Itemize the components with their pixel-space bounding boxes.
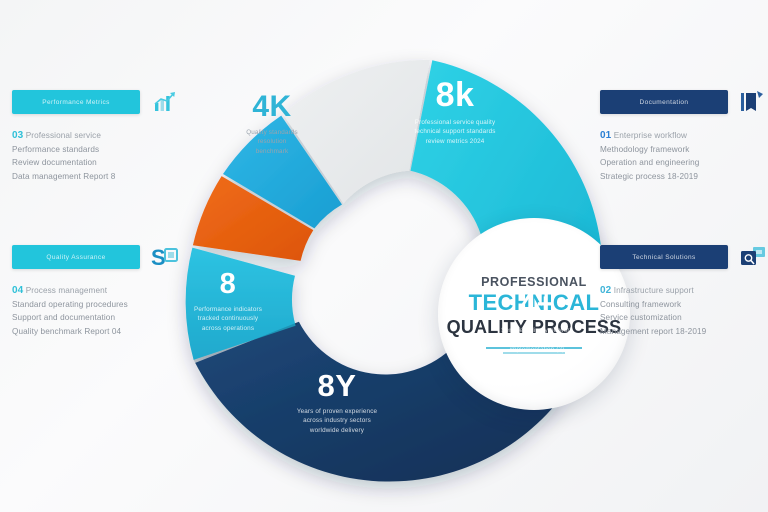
- panel-tag-documentation[interactable]: Documentation: [600, 90, 728, 114]
- panel-line: Service customization: [600, 311, 768, 325]
- hub-line-1: PROFESSIONAL: [481, 275, 587, 289]
- segment-value-top-left: 4K: [216, 92, 328, 122]
- panel-header: Technical Solutions: [600, 243, 768, 271]
- panel-tag-quality-assurance[interactable]: Quality Assurance: [12, 245, 140, 269]
- segment-label-bottom: 8Y Years of proven experience across ind…: [272, 370, 402, 435]
- panel-body: 03 Professional service Performance stan…: [12, 129, 180, 183]
- segment-subtext-right: Service delivery network enterprise mana…: [472, 326, 602, 354]
- panel-tag-performance-metrics[interactable]: Performance Metrics: [12, 90, 140, 114]
- panel-line: Support and documentation: [12, 311, 180, 325]
- segment-value-left: 8: [172, 270, 284, 299]
- panel-line: Management report 18-2019: [600, 325, 768, 339]
- segment-label-top-left: 4K Quality standards resolution benchmar…: [216, 92, 328, 156]
- panel-line: 01 Enterprise workflow: [600, 129, 768, 143]
- segment-subtext-bottom: Years of proven experience across indust…: [272, 407, 402, 435]
- infographic-canvas: PROFESSIONAL TECHNICAL QUALITY PROCESS 8…: [0, 0, 768, 512]
- panel-header: Performance Metrics: [12, 88, 180, 116]
- segment-subtext-left: Performance indicators tracked continuou…: [172, 305, 284, 333]
- segment-value-top: 8k: [390, 78, 520, 112]
- panel-body: 01 Enterprise workflow Methodology frame…: [600, 129, 768, 183]
- info-panel-bottom-left: Quality Assurance S 04 Process managemen…: [12, 243, 180, 338]
- panel-line: Operation and engineering: [600, 156, 768, 170]
- svg-text:S: S: [151, 245, 166, 270]
- segment-label-left: 8 Performance indicators tracked continu…: [172, 270, 284, 333]
- panel-line: 03 Professional service: [12, 129, 180, 143]
- info-panel-bottom-right: Technical Solutions 02 Infrastructure su…: [600, 243, 768, 338]
- panel-line: Quality benchmark Report 04: [12, 325, 180, 339]
- panel-tag-technical-solutions[interactable]: Technical Solutions: [600, 245, 728, 269]
- book-icon: [736, 87, 768, 117]
- segment-subtext-top: Professional service quality technical s…: [390, 118, 520, 146]
- panel-header: Documentation: [600, 88, 768, 116]
- storage-icon: S: [148, 242, 180, 272]
- panel-line: Standard operating procedures: [12, 298, 180, 312]
- panel-header: Quality Assurance S: [12, 243, 180, 271]
- panel-line: Review documentation: [12, 156, 180, 170]
- panel-line: Performance standards: [12, 143, 180, 157]
- panel-line: Methodology framework: [600, 143, 768, 157]
- panel-body: 04 Process management Standard operating…: [12, 284, 180, 338]
- bar-chart-icon: [148, 87, 180, 117]
- segment-subtext-top-left: Quality standards resolution benchmark: [216, 128, 328, 156]
- panel-line: Strategic process 18-2019: [600, 170, 768, 184]
- segment-value-right: 4+: [472, 290, 602, 320]
- panel-body: 02 Infrastructure support Consulting fra…: [600, 284, 768, 338]
- info-panel-top-left: Performance Metrics 03 Professional serv…: [12, 88, 180, 183]
- panel-line: 02 Infrastructure support: [600, 284, 768, 298]
- panel-line: 04 Process management: [12, 284, 180, 298]
- segment-value-bottom: 8Y: [272, 370, 402, 401]
- presentation-icon: [736, 242, 768, 272]
- info-panel-top-right: Documentation 01 Enterprise workflow Met…: [600, 88, 768, 183]
- panel-line: Data management Report 8: [12, 170, 180, 184]
- segment-label-right: 4+ Service delivery network enterprise m…: [472, 290, 602, 354]
- panel-line: Consulting framework: [600, 298, 768, 312]
- segment-label-top: 8k Professional service quality technica…: [390, 78, 520, 146]
